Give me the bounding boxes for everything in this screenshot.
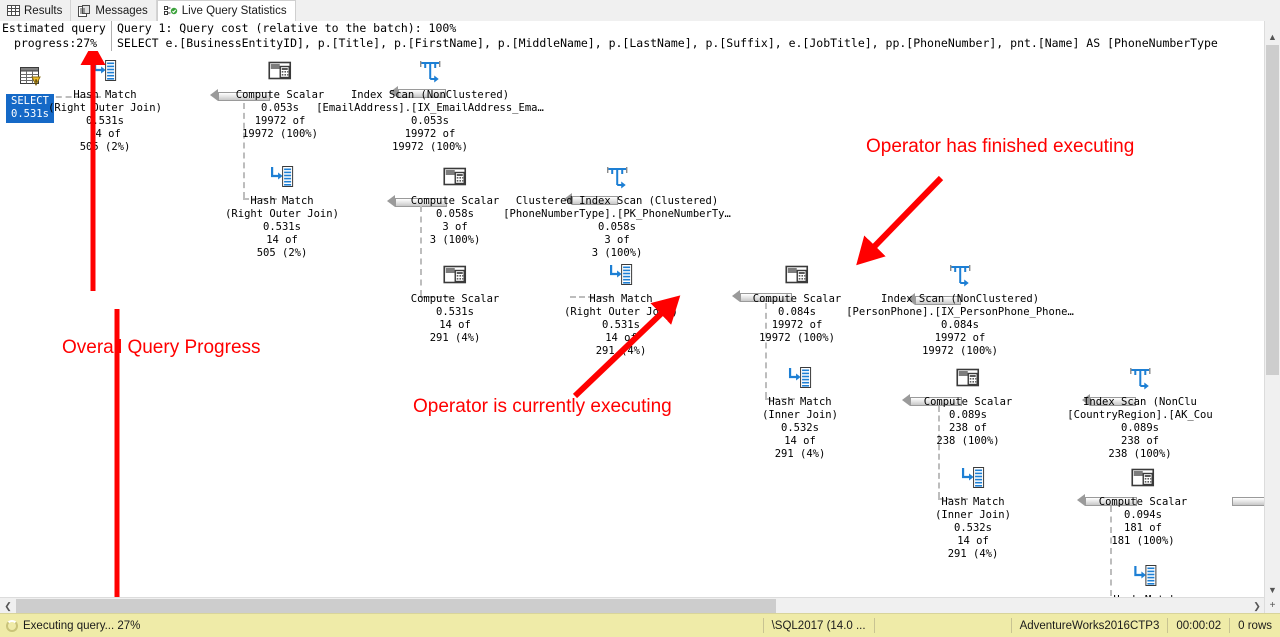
op-compute-scalar-5-line-3: 238 (100%) (924, 435, 1013, 448)
op-hash-match-3-line-2: 0.531s (564, 319, 678, 332)
op-clustered-index-scan-phonenumbertype-line-2: 0.058s (503, 221, 731, 234)
op-compute-scalar-6-line-0: Compute Scalar (1099, 496, 1188, 509)
compute-scalar-icon (442, 165, 468, 189)
op-hash-match-2[interactable]: Hash Match(Right Outer Join)0.531s14 of5… (225, 165, 339, 260)
op-compute-scalar-2-line-1: 0.058s (411, 208, 500, 221)
status-right-group: \SQL2017 (14.0 ... AdventureWorks2016CTP… (763, 614, 1280, 637)
connector-arrowhead (210, 89, 218, 101)
op-compute-scalar-2-line-3: 3 (100%) (411, 234, 500, 247)
query-text-block: Query 1: Query cost (relative to the bat… (117, 21, 1262, 51)
op-clustered-index-scan-phonenumbertype[interactable]: Clustered Index Scan (Clustered)[PhoneNu… (503, 165, 731, 260)
op-hash-match-5-line-1: (Inner Join) (935, 509, 1011, 522)
op-compute-scalar-1[interactable]: Compute Scalar0.053s19972 of19972 (100%) (236, 59, 325, 141)
op-compute-scalar-3-line-2: 14 of (411, 319, 500, 332)
vertical-scroll-thumb[interactable] (1266, 45, 1279, 375)
status-database: AdventureWorks2016CTP3 (1011, 618, 1168, 633)
op-compute-scalar-2-line-2: 3 of (411, 221, 500, 234)
op-index-scan-emailaddress-line-2: 0.053s (316, 115, 544, 128)
scroll-left-icon[interactable]: ❮ (0, 598, 16, 614)
op-compute-scalar-3-line-1: 0.531s (411, 306, 500, 319)
op-compute-scalar-2[interactable]: Compute Scalar0.058s3 of3 (100%) (411, 165, 500, 247)
op-index-scan-countryregion[interactable]: Index Scan (NonClu[CountryRegion].[AK_Co… (1067, 366, 1212, 461)
op-hash-match-2-line-1: (Right Outer Join) (225, 208, 339, 221)
estimated-progress-value: progress:27% (0, 36, 111, 51)
op-compute-scalar-1-line-2: 19972 of (236, 115, 325, 128)
op-index-scan-personphone-line-4: 19972 (100%) (846, 345, 1074, 358)
op-hash-match-4-line-0: Hash Match (762, 396, 838, 409)
op-compute-scalar-3-line-3: 291 (4%) (411, 332, 500, 345)
select-label: SELECT (11, 95, 49, 108)
live-stats-icon (164, 4, 178, 18)
tab-messages[interactable]: Messages (71, 0, 156, 21)
op-compute-scalar-1-line-1: 0.053s (236, 102, 325, 115)
results-pane-tabstrip: Results Messages Live Query Stati (0, 0, 1280, 22)
op-hash-match-1-line-3: 14 of (48, 128, 162, 141)
op-hash-match-4-line-3: 14 of (762, 435, 838, 448)
op-compute-scalar-5-line-0: Compute Scalar (924, 396, 1013, 409)
vertical-scrollbar[interactable]: ▲ ▼ + (1264, 21, 1280, 613)
compute-scalar-icon (442, 263, 468, 287)
op-hash-match-3-line-0: Hash Match (564, 293, 678, 306)
op-compute-scalar-3-line-0: Compute Scalar (411, 293, 500, 306)
op-clustered-index-scan-phonenumbertype-line-0: Clustered Index Scan (Clustered) (503, 195, 731, 208)
op-compute-scalar-5-line-2: 238 of (924, 422, 1013, 435)
op-hash-match-1-line-1: (Right Outer Join) (48, 102, 162, 115)
execution-plan-canvas[interactable]: SELECT 0.531s Hash Match(Right Outer Joi… (0, 51, 1265, 597)
op-clustered-index-scan-phonenumbertype-line-1: [PhoneNumberType].[PK_PhoneNumberTy… (503, 208, 731, 221)
op-hash-match-4-line-4: 291 (4%) (762, 448, 838, 461)
op-hash-match-2-line-0: Hash Match (225, 195, 339, 208)
tab-live-query-statistics[interactable]: Live Query Statistics (157, 0, 296, 22)
index-scan-icon (947, 263, 973, 287)
op-compute-scalar-4[interactable]: Compute Scalar0.084s19972 of19972 (100%) (753, 263, 842, 345)
op-compute-scalar-4-line-1: 0.084s (753, 306, 842, 319)
op-compute-scalar-6-line-2: 181 of (1099, 522, 1188, 535)
compute-scalar-icon (784, 263, 810, 287)
estimated-query-progress: Estimated query progress:27% (0, 21, 112, 51)
op-index-scan-countryregion-line-3: 238 of (1067, 435, 1212, 448)
op-compute-scalar-6-line-1: 0.094s (1099, 509, 1188, 522)
op-compute-scalar-4-line-0: Compute Scalar (753, 293, 842, 306)
hash-match-icon (960, 466, 986, 490)
status-executing-group: Executing query... 27% (0, 620, 140, 632)
connector-arrowhead (387, 195, 395, 207)
op-index-scan-countryregion-line-0: Index Scan (NonClu (1067, 396, 1212, 409)
op-hash-match-3[interactable]: Hash Match(Right Outer Join)0.531s14 of2… (564, 263, 678, 358)
op-hash-match-1-line-2: 0.531s (48, 115, 162, 128)
op-compute-scalar-6[interactable]: Compute Scalar0.094s181 of181 (100%) (1099, 466, 1188, 548)
op-hash-match-5-line-3: 14 of (935, 535, 1011, 548)
op-index-scan-personphone-line-1: [PersonPhone].[IX_PersonPhone_Phone… (846, 306, 1074, 319)
connector-arrow (1232, 497, 1265, 506)
op-index-scan-emailaddress-line-3: 19972 of (316, 128, 544, 141)
status-row-count: 0 rows (1229, 618, 1280, 633)
query-sql-line: SELECT e.[BusinessEntityID], p.[Title], … (117, 36, 1262, 51)
connector-arrowhead (732, 290, 740, 302)
spinner-icon (6, 620, 18, 632)
hash-match-icon (787, 366, 813, 390)
op-hash-match-5[interactable]: Hash Match(Inner Join)0.532s14 of291 (4%… (935, 466, 1011, 561)
select-operator-node[interactable]: SELECT 0.531s (6, 65, 54, 123)
op-index-scan-personphone-line-0: Index Scan (NonClustered) (846, 293, 1074, 306)
hash-match-icon (1132, 564, 1158, 588)
op-index-scan-emailaddress[interactable]: Index Scan (NonClustered)[EmailAddress].… (316, 59, 544, 154)
scroll-corner-resize[interactable]: + (1265, 597, 1280, 613)
status-bar: Executing query... 27% \SQL2017 (14.0 ..… (0, 613, 1280, 637)
op-index-scan-emailaddress-line-0: Index Scan (NonClustered) (316, 89, 544, 102)
op-index-scan-emailaddress-line-4: 19972 (100%) (316, 141, 544, 154)
compute-scalar-icon (1130, 466, 1156, 490)
tab-messages-label: Messages (95, 5, 147, 17)
op-hash-match-1-line-4: 505 (2%) (48, 141, 162, 154)
connector-arrowhead (902, 394, 910, 406)
op-hash-match-3-line-4: 291 (4%) (564, 345, 678, 358)
query-cost-line: Query 1: Query cost (relative to the bat… (117, 21, 1262, 36)
op-index-scan-countryregion-line-4: 238 (100%) (1067, 448, 1212, 461)
status-server: \SQL2017 (14.0 ... (763, 618, 874, 633)
op-compute-scalar-1-line-3: 19972 (100%) (236, 128, 325, 141)
op-compute-scalar-5[interactable]: Compute Scalar0.089s238 of238 (100%) (924, 366, 1013, 448)
op-hash-match-1[interactable]: Hash Match(Right Outer Join)0.531s14 of5… (48, 59, 162, 154)
op-hash-match-6[interactable]: Hash Match (1113, 564, 1176, 597)
op-hash-match-5-line-0: Hash Match (935, 496, 1011, 509)
op-hash-match-4-line-2: 0.532s (762, 422, 838, 435)
op-index-scan-emailaddress-line-1: [EmailAddress].[IX_EmailAddress_Ema… (316, 102, 544, 115)
hash-match-icon (92, 59, 118, 83)
connector-arrowhead (1077, 494, 1085, 506)
horizontal-scrollbar[interactable]: ❮ ❯ (0, 597, 1265, 614)
tab-results-label: Results (24, 5, 62, 17)
op-index-scan-personphone-line-2: 0.084s (846, 319, 1074, 332)
grid-icon (6, 4, 20, 18)
anno-currently-executing: Operator is currently executing (413, 396, 672, 418)
op-hash-match-4-line-1: (Inner Join) (762, 409, 838, 422)
hash-match-icon (608, 263, 634, 287)
query-plan-header: Estimated query progress:27% Query 1: Qu… (0, 21, 1280, 52)
op-index-scan-personphone[interactable]: Index Scan (NonClustered)[PersonPhone].[… (846, 263, 1074, 358)
op-compute-scalar-4-line-2: 19972 of (753, 319, 842, 332)
hash-match-icon (269, 165, 295, 189)
op-index-scan-countryregion-line-2: 0.089s (1067, 422, 1212, 435)
op-compute-scalar-2-line-0: Compute Scalar (411, 195, 500, 208)
scroll-down-icon[interactable]: ▼ (1265, 582, 1280, 597)
status-elapsed-time: 00:00:02 (1167, 618, 1229, 633)
op-compute-scalar-4-line-3: 19972 (100%) (753, 332, 842, 345)
index-scan-icon (417, 59, 443, 83)
op-compute-scalar-6-line-3: 181 (100%) (1099, 535, 1188, 548)
compute-scalar-icon (955, 366, 981, 390)
tab-results[interactable]: Results (0, 0, 71, 21)
op-hash-match-2-line-3: 14 of (225, 234, 339, 247)
index-scan-icon (604, 165, 630, 189)
op-clustered-index-scan-phonenumbertype-line-4: 3 (100%) (503, 247, 731, 260)
select-badge: SELECT 0.531s (6, 94, 54, 123)
op-hash-match-2-line-4: 505 (2%) (225, 247, 339, 260)
horizontal-scroll-thumb[interactable] (16, 599, 776, 613)
op-compute-scalar-5-line-1: 0.089s (924, 409, 1013, 422)
op-index-scan-personphone-line-3: 19972 of (846, 332, 1074, 345)
op-compute-scalar-3[interactable]: Compute Scalar0.531s14 of291 (4%) (411, 263, 500, 345)
status-executing-text: Executing query... 27% (23, 620, 140, 632)
op-compute-scalar-1-line-0: Compute Scalar (236, 89, 325, 102)
scroll-right-icon[interactable]: ❯ (1249, 598, 1265, 614)
select-result-icon (6, 65, 54, 94)
anno-overall-query-progress: Overall Query Progress (62, 337, 261, 359)
op-hash-match-1-line-0: Hash Match (48, 89, 162, 102)
op-hash-match-4[interactable]: Hash Match(Inner Join)0.532s14 of291 (4%… (762, 366, 838, 461)
op-hash-match-5-line-2: 0.532s (935, 522, 1011, 535)
op-hash-match-2-line-2: 0.531s (225, 221, 339, 234)
anno-finished-executing: Operator has finished executing (866, 136, 1134, 158)
message-icon (77, 4, 91, 18)
select-cost: 0.531s (11, 108, 49, 121)
op-index-scan-countryregion-line-1: [CountryRegion].[AK_Cou (1067, 409, 1212, 422)
op-hash-match-3-line-1: (Right Outer Join) (564, 306, 678, 319)
op-clustered-index-scan-phonenumbertype-line-3: 3 of (503, 234, 731, 247)
scroll-up-icon[interactable]: ▲ (1265, 29, 1280, 44)
op-hash-match-3-line-3: 14 of (564, 332, 678, 345)
compute-scalar-icon (267, 59, 293, 83)
tab-live-query-statistics-label: Live Query Statistics (182, 5, 287, 17)
index-scan-icon (1127, 366, 1153, 390)
estimated-progress-label: Estimated query (0, 21, 111, 36)
status-user (874, 618, 1011, 633)
op-hash-match-5-line-4: 291 (4%) (935, 548, 1011, 561)
